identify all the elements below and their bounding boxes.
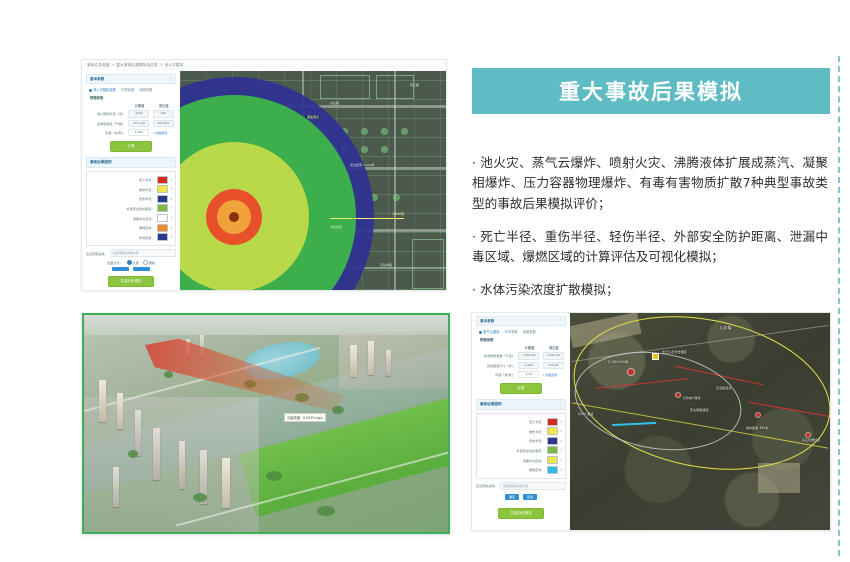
legend-box: 死亡半径：▾ 重伤半径：▾ 轻伤半径：▾ 外部安全防护距离：▾ 泄漏中毒区域：▾… — [86, 171, 176, 247]
blue-action-bar — [82, 265, 180, 271]
value-input[interactable]: 2.30 — [518, 371, 539, 378]
cad-block — [376, 75, 414, 99]
color-swatch[interactable] — [157, 176, 168, 184]
plan-select[interactable]: 请选择预案关联文件 — [110, 249, 176, 257]
value-input[interactable]: 182,840 — [153, 120, 174, 127]
legend-label: 重伤半径： — [529, 429, 544, 434]
cad-simulation-screenshot: 事故应急救援 ＞ 重大事故后果模拟及应急 ＞ 池火灾模拟 基本参数 ⌃ 池火灾模… — [82, 60, 446, 290]
color-swatch[interactable] — [157, 204, 168, 212]
legend-label: 爆燃区域： — [139, 225, 154, 230]
value-input[interactable]: 5.265 — [128, 129, 149, 136]
plume-concentration-label: 污染浓度：0.0235 mg/L — [284, 413, 326, 422]
col-spacer — [86, 102, 127, 109]
row-label: 总燃烧热值（千焦）： — [86, 119, 127, 128]
tree — [317, 506, 335, 516]
bullet-item: · 水体污染浓度扩散模拟； — [472, 280, 828, 301]
bullet-item: · 死亡半径、重伤半径、轻伤半径、外部安全防护距离、泄漏中毒区域、爆燃区域的计算… — [472, 227, 828, 268]
color-swatch[interactable] — [157, 195, 168, 203]
tab-vapor-cloud[interactable]: 蒸气云模拟 — [479, 329, 499, 334]
legend-item-light: 轻伤半径：▾ — [480, 437, 562, 445]
building — [350, 345, 357, 377]
basic-params-group: 基本参数 ⌃ 池火灾模拟参数 环境参数 地图参数 物理参数 计算值 修正值 — [86, 74, 176, 152]
legend-item-affect: 作用区域：▾ — [90, 233, 172, 241]
cad-map-canvas[interactable]: 1,640米 化工路 兴业路 事故源点 安全距离 1,640米 消防通道 石化中… — [180, 71, 446, 290]
params-table: 计算值 修正值 化学物质质量（千克）： 1,580.00 1,580.00 目标… — [476, 344, 566, 379]
tab-map[interactable]: 地图参数 — [523, 329, 536, 334]
params-table: 计算值 修正值 池火燃烧半径（米）： 1640 790 总燃烧热值（千焦）： 2… — [86, 102, 176, 137]
output-mode-label: 出图方式： — [107, 260, 122, 265]
basic-params-header[interactable]: 基本参数 ⌃ — [86, 74, 176, 84]
color-swatch[interactable] — [157, 224, 168, 232]
facility-marker-icon[interactable] — [652, 353, 659, 360]
map-label-distance: 2,300.00米 — [608, 359, 629, 365]
bullet-item: · 池火灾、蒸气云爆炸、喷射火灾、沸腾液体扩展成蒸汽、凝聚相爆炸、压力容器物理爆… — [472, 153, 828, 215]
urban-district — [84, 397, 259, 532]
blue-button-b[interactable] — [133, 267, 150, 271]
bullet-list: · 池火灾、蒸气云爆炸、喷射火灾、沸腾液体扩展成蒸汽、凝聚相爆炸、压力容器物理爆… — [472, 140, 828, 302]
map-label-safety: 安全距离 1,640米 — [350, 163, 375, 167]
chevron-down-icon[interactable]: ▾ — [170, 226, 172, 230]
physical-params-title: 物理参数 — [476, 336, 566, 343]
value-input[interactable]: 790 — [153, 110, 174, 117]
cancel-button[interactable]: 取消 — [523, 494, 537, 501]
radio-raster[interactable]: 栅格 — [143, 260, 155, 266]
building — [179, 441, 185, 489]
legend-item-serious: 重伤半径：▾ — [480, 427, 562, 435]
legend-label: 轻伤半径： — [139, 196, 154, 201]
export-report-button[interactable]: 生成分析报告 — [498, 508, 544, 519]
chevron-down-icon[interactable]: ▾ — [170, 187, 172, 191]
value-input[interactable]: 350.00 — [543, 362, 564, 369]
table-row: 目标距离尺寸（米）： 2,000 350.00 — [476, 361, 566, 370]
field-patch — [758, 463, 800, 493]
row-pick: ⌖ 地图拾取 — [152, 128, 176, 137]
building — [368, 341, 374, 375]
map-label-fire-lane: 消防通道 — [330, 225, 342, 229]
row-value-computed: 275,199 — [127, 119, 151, 128]
legend-item-death: 死亡半径：▾ — [480, 418, 562, 426]
param-tabs: 蒸气云模拟 环境参数 地图参数 — [476, 326, 566, 336]
row-value-computed: 2,000 — [517, 361, 541, 370]
blue-action-bar: 确定 取消 — [472, 490, 570, 501]
chevron-down-icon[interactable]: ▾ — [560, 420, 562, 424]
chevron-up-icon[interactable]: ⌃ — [169, 77, 172, 81]
plan-select-label: 应急预案关联： — [86, 251, 108, 256]
row-label: 风速（米/秒）： — [476, 370, 517, 379]
legend-label: 泄漏中毒区域： — [133, 216, 155, 221]
plan-select[interactable]: 请选择预案关联文件 — [500, 482, 566, 490]
tree — [128, 450, 138, 458]
chevron-down-icon[interactable]: ▾ — [560, 468, 562, 472]
row-pick: ⌖ 地图拾取 — [542, 370, 566, 379]
map-pick-button[interactable]: ⌖ 地图拾取 — [153, 131, 168, 135]
chevron-down-icon[interactable]: ▾ — [560, 448, 562, 452]
legend-item-toxic: 泄漏中毒区域：▾ — [480, 456, 562, 464]
tab-pool-fire[interactable]: 池火灾模拟参数 — [89, 87, 116, 92]
table-header-row: 计算值 修正值 — [476, 344, 566, 351]
chevron-down-icon[interactable]: ▾ — [560, 429, 562, 433]
chevron-down-icon[interactable]: ▾ — [560, 458, 562, 462]
map-label-village: 东山村居民区 — [802, 437, 821, 442]
table-row: 池火燃烧半径（米）： 1640 790 — [86, 109, 176, 118]
map-pick-button[interactable]: ⌖ 地图拾取 — [543, 373, 558, 377]
legend-header[interactable]: 事故后果图例 ⌃ — [86, 157, 176, 167]
slide-page: 事故应急救援 ＞ 重大事故后果模拟及应急 ＞ 池火灾模拟 基本参数 ⌃ 池火灾模… — [0, 0, 850, 562]
sat-control-panel: 基本参数 ⌃ 蒸气云模拟 环境参数 地图参数 物理参数 计算值 修正值 — [472, 313, 571, 530]
accident-source-point[interactable] — [229, 212, 239, 222]
chevron-up-icon[interactable]: ⌃ — [559, 402, 562, 406]
legend-label: 外部安全防护距离： — [517, 448, 545, 453]
row-value-adjusted: 790 — [152, 109, 176, 118]
map-label-road-3: 石化中路 — [380, 263, 392, 267]
map-label-evac: 安全疏散通道 — [690, 407, 709, 412]
table-row: 风速（米/秒）： 5.265 ⌖ 地图拾取 — [86, 128, 176, 137]
page-title: 重大事故后果模拟 — [559, 76, 743, 106]
table-header-row: 计算值 修正值 — [86, 102, 176, 109]
building — [222, 458, 230, 508]
cad-tree-icon — [382, 147, 387, 152]
row-label: 池火燃烧半径（米）： — [86, 109, 127, 118]
basic-params-group: 基本参数 ⌃ 蒸气云模拟 环境参数 地图参数 物理参数 计算值 修正值 — [476, 316, 566, 394]
export-report-button[interactable]: 生成分析报告 — [108, 276, 154, 287]
cad-tree-icon — [362, 147, 367, 152]
group-title: 基本参数 — [480, 319, 494, 324]
impact-marker[interactable] — [676, 393, 680, 397]
legend-label: 作用区域： — [139, 235, 154, 240]
tree — [193, 493, 207, 502]
legend-label: 轻伤半径： — [529, 438, 544, 443]
cad-tree-icon — [402, 129, 407, 134]
col-computed: 计算值 — [517, 344, 541, 351]
row-value-computed: 2.30 — [517, 370, 541, 379]
cad-road — [394, 71, 396, 290]
chevron-down-icon[interactable]: ▾ — [170, 235, 172, 239]
cad-tree-icon — [382, 129, 387, 134]
legend-label: 重伤半径： — [139, 187, 154, 192]
physical-params-title: 物理参数 — [86, 94, 176, 101]
satellite-map-canvas[interactable]: 山水镇 龙王山石化仓储区 2,300.00米 应急集结点 下风向扩散带 安全疏散… — [570, 313, 830, 530]
color-swatch[interactable] — [157, 185, 168, 193]
map-label-downwind: 下风向扩散带 — [682, 395, 701, 400]
confirm-button[interactable]: 确定 — [505, 494, 519, 501]
calculate-button[interactable]: 计算 — [110, 141, 152, 152]
output-mode-row: 出图方式： 矢量 栅格 — [82, 257, 180, 265]
map-label-facility: 龙王山石化仓储区 — [662, 349, 687, 354]
legend-item-toxic: 泄漏中毒区域：▾ — [90, 214, 172, 222]
legend-item-safety: 外部安全防护距离：▾ — [90, 204, 172, 212]
value-input[interactable]: 1,580.00 — [543, 352, 564, 359]
cad-tree-icon — [362, 129, 367, 134]
legend-title: 事故后果图例 — [480, 402, 502, 407]
cad-block — [320, 75, 370, 99]
legend-item-safety: 外部安全防护距离：▾ — [480, 446, 562, 454]
row-value-adjusted: 182,840 — [152, 119, 176, 128]
map-label-assembly: 应急集结点 — [716, 385, 731, 390]
group-title: 基本参数 — [90, 77, 104, 82]
map-label-protect: 防护距离 350米 — [746, 425, 768, 430]
value-input[interactable]: 1640 — [128, 110, 149, 117]
cad-control-panel: 基本参数 ⌃ 池火灾模拟参数 环境参数 地图参数 物理参数 计算值 修正值 — [82, 71, 181, 290]
building — [117, 393, 123, 429]
row-value-adjusted: 350.00 — [542, 361, 566, 370]
legend-label: 死亡半径： — [529, 419, 544, 424]
building — [99, 380, 106, 422]
radius-leader-line — [330, 218, 404, 219]
legend-label: 外部安全防护距离： — [127, 206, 155, 211]
legend-label: 爆燃区域： — [529, 467, 544, 472]
legend-label: 死亡半径： — [139, 177, 154, 182]
legend-item-light: 轻伤半径：▾ — [90, 195, 172, 203]
tab-map[interactable]: 地图参数 — [139, 87, 152, 92]
table-row: 风速（米/秒）： 2.30 ⌖ 地图拾取 — [476, 370, 566, 379]
color-swatch[interactable] — [157, 233, 168, 241]
legend-item-death: 死亡半径：▾ — [90, 176, 172, 184]
color-swatch[interactable] — [547, 446, 558, 454]
color-swatch[interactable] — [547, 427, 558, 435]
col-adjusted: 修正值 — [542, 344, 566, 351]
basic-params-header[interactable]: 基本参数 ⌃ — [476, 316, 566, 326]
value-input[interactable]: 275,199 — [128, 120, 149, 127]
building — [113, 467, 119, 507]
legend-header[interactable]: 事故后果图例 ⌃ — [476, 399, 566, 409]
row-value-adjusted: 1,580.00 — [542, 351, 566, 360]
chevron-down-icon[interactable]: ▾ — [170, 178, 172, 182]
satellite-simulation-screenshot: 基本参数 ⌃ 蒸气云模拟 环境参数 地图参数 物理参数 计算值 修正值 — [472, 313, 830, 530]
chevron-down-icon[interactable]: ▾ — [170, 206, 172, 210]
table-row: 化学物质质量（千克）： 1,580.00 1,580.00 — [476, 351, 566, 360]
map-label-town: 山水镇 — [720, 325, 731, 331]
color-swatch[interactable] — [547, 437, 558, 445]
aerial-canvas: 污染浓度：0.0235 mg/L — [84, 315, 448, 532]
cad-tree-icon — [394, 195, 399, 200]
impact-marker[interactable] — [756, 413, 760, 417]
right-dashed-rule — [838, 56, 840, 556]
building — [135, 410, 141, 456]
blue-button-a[interactable] — [112, 267, 129, 271]
building — [153, 428, 160, 480]
aerial-render-screenshot: 污染浓度：0.0235 mg/L — [82, 313, 450, 534]
map-label-highway: G105 国道 — [578, 411, 593, 416]
param-tabs: 池火灾模拟参数 环境参数 地图参数 — [86, 84, 176, 94]
row-label: 化学物质质量（千克）： — [476, 351, 517, 360]
legend-title: 事故后果图例 — [90, 160, 112, 165]
tab-environment[interactable]: 环境参数 — [504, 329, 517, 334]
value-input[interactable]: 1,580.00 — [518, 352, 539, 359]
color-swatch[interactable] — [157, 214, 168, 222]
col-adjusted: 修正值 — [152, 102, 176, 109]
legend-item-deflag: 爆燃区域：▾ — [90, 224, 172, 232]
row-value-computed: 5.265 — [127, 128, 151, 137]
legend-item-serious: 重伤半径：▾ — [90, 185, 172, 193]
chevron-down-icon[interactable]: ▾ — [170, 197, 172, 201]
cad-block — [412, 239, 444, 289]
plan-select-row: 应急预案关联： 请选择预案关联文件 — [472, 479, 570, 490]
chevron-up-icon[interactable]: ⌃ — [559, 319, 562, 323]
chevron-down-icon[interactable]: ▾ — [560, 439, 562, 443]
legend-box: 死亡半径：▾ 重伤半径：▾ 轻伤半径：▾ 外部安全防护距离：▾ 泄漏中毒区域：▾… — [476, 413, 566, 479]
color-swatch[interactable] — [547, 418, 558, 426]
color-swatch[interactable] — [547, 466, 558, 474]
col-spacer — [476, 344, 517, 351]
value-input[interactable]: 2,000 — [518, 362, 539, 369]
row-label: 风速（米/秒）： — [86, 128, 127, 137]
col-computed: 计算值 — [127, 102, 151, 109]
map-label-road-1: 化工路 — [410, 83, 419, 87]
plan-select-label: 应急预案关联： — [476, 483, 498, 488]
row-value-computed: 1,580.00 — [517, 351, 541, 360]
color-swatch[interactable] — [547, 456, 558, 464]
row-label: 目标距离尺寸（米）： — [476, 361, 517, 370]
legend-group: 事故后果图例 ⌃ — [86, 157, 176, 167]
table-row: 总燃烧热值（千焦）： 275,199 182,840 — [86, 119, 176, 128]
tab-environment[interactable]: 环境参数 — [121, 87, 134, 92]
plan-select-row: 应急预案关联： 请选择预案关联文件 — [82, 246, 180, 257]
legend-label: 泄漏中毒区域： — [523, 458, 545, 463]
calculate-button[interactable]: 计算 — [500, 383, 542, 394]
row-value-computed: 1640 — [127, 109, 151, 118]
accident-source-marker[interactable] — [628, 369, 634, 375]
building — [386, 350, 391, 376]
chevron-down-icon[interactable]: ▾ — [170, 216, 172, 220]
legend-group: 事故后果图例 ⌃ — [476, 399, 566, 409]
radius-callout-label: 1,640米 — [392, 211, 404, 216]
map-label-road-2: 兴业路 — [330, 101, 339, 105]
map-label-source: 事故源点 — [306, 115, 320, 119]
chevron-up-icon[interactable]: ⌃ — [169, 160, 172, 164]
legend-item-deflag: 爆燃区域：▾ — [480, 466, 562, 474]
section-banner: 重大事故后果模拟 — [472, 68, 830, 114]
radio-vector[interactable]: 矢量 — [127, 260, 139, 266]
